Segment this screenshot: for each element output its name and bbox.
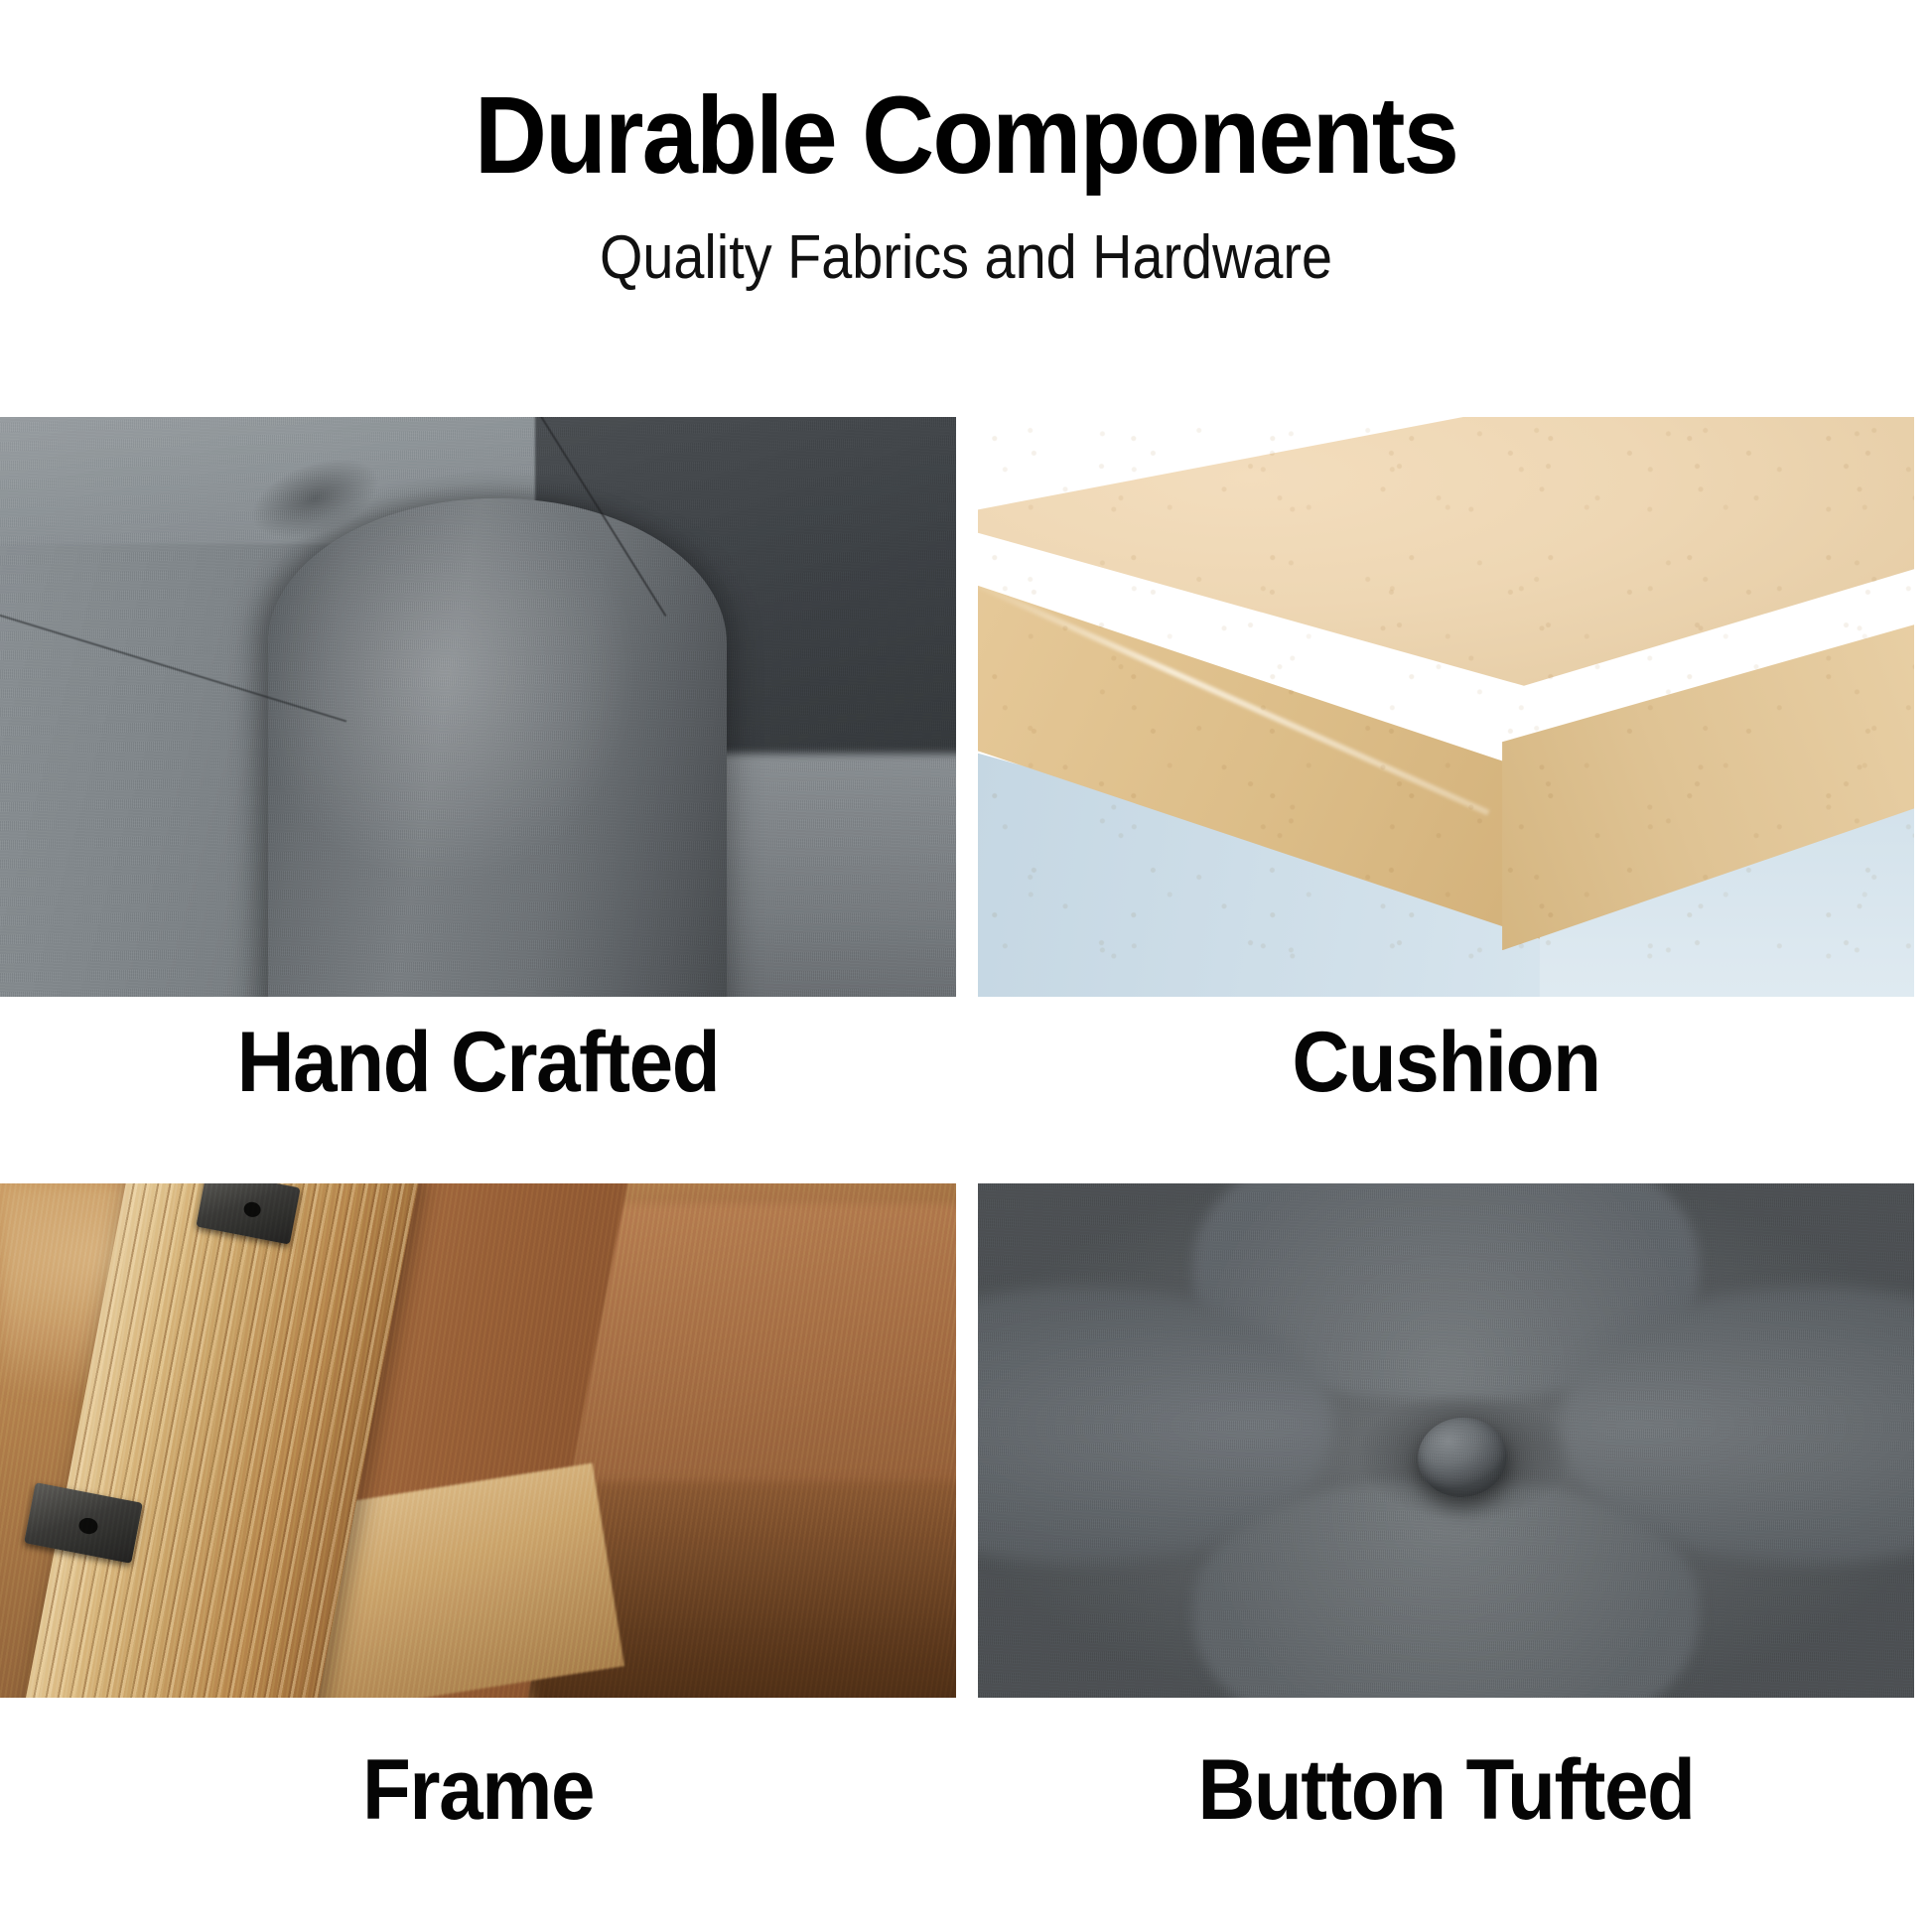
caption-frame: Frame [34, 1742, 923, 1838]
velvet-texture [0, 417, 956, 997]
caption-cushion: Cushion [1011, 1015, 1881, 1110]
foam-cell-texture [978, 417, 1914, 997]
velvet-texture [978, 1183, 1914, 1698]
page-title: Durable Components [77, 77, 1855, 195]
caption-hand-crafted: Hand Crafted [34, 1015, 923, 1110]
caption-button-tufted: Button Tufted [1011, 1742, 1881, 1838]
panel-cushion-image [978, 417, 1914, 997]
panel-frame-image [0, 1183, 956, 1698]
panel-hand-crafted-image [0, 417, 956, 997]
panel-button-tufted-image [978, 1183, 1914, 1698]
page-subtitle: Quality Fabrics and Hardware [96, 222, 1835, 294]
wood-grain-texture [0, 1183, 956, 1698]
durable-components-infographic: Durable Components Quality Fabrics and H… [0, 0, 1932, 1932]
header: Durable Components Quality Fabrics and H… [0, 0, 1932, 328]
